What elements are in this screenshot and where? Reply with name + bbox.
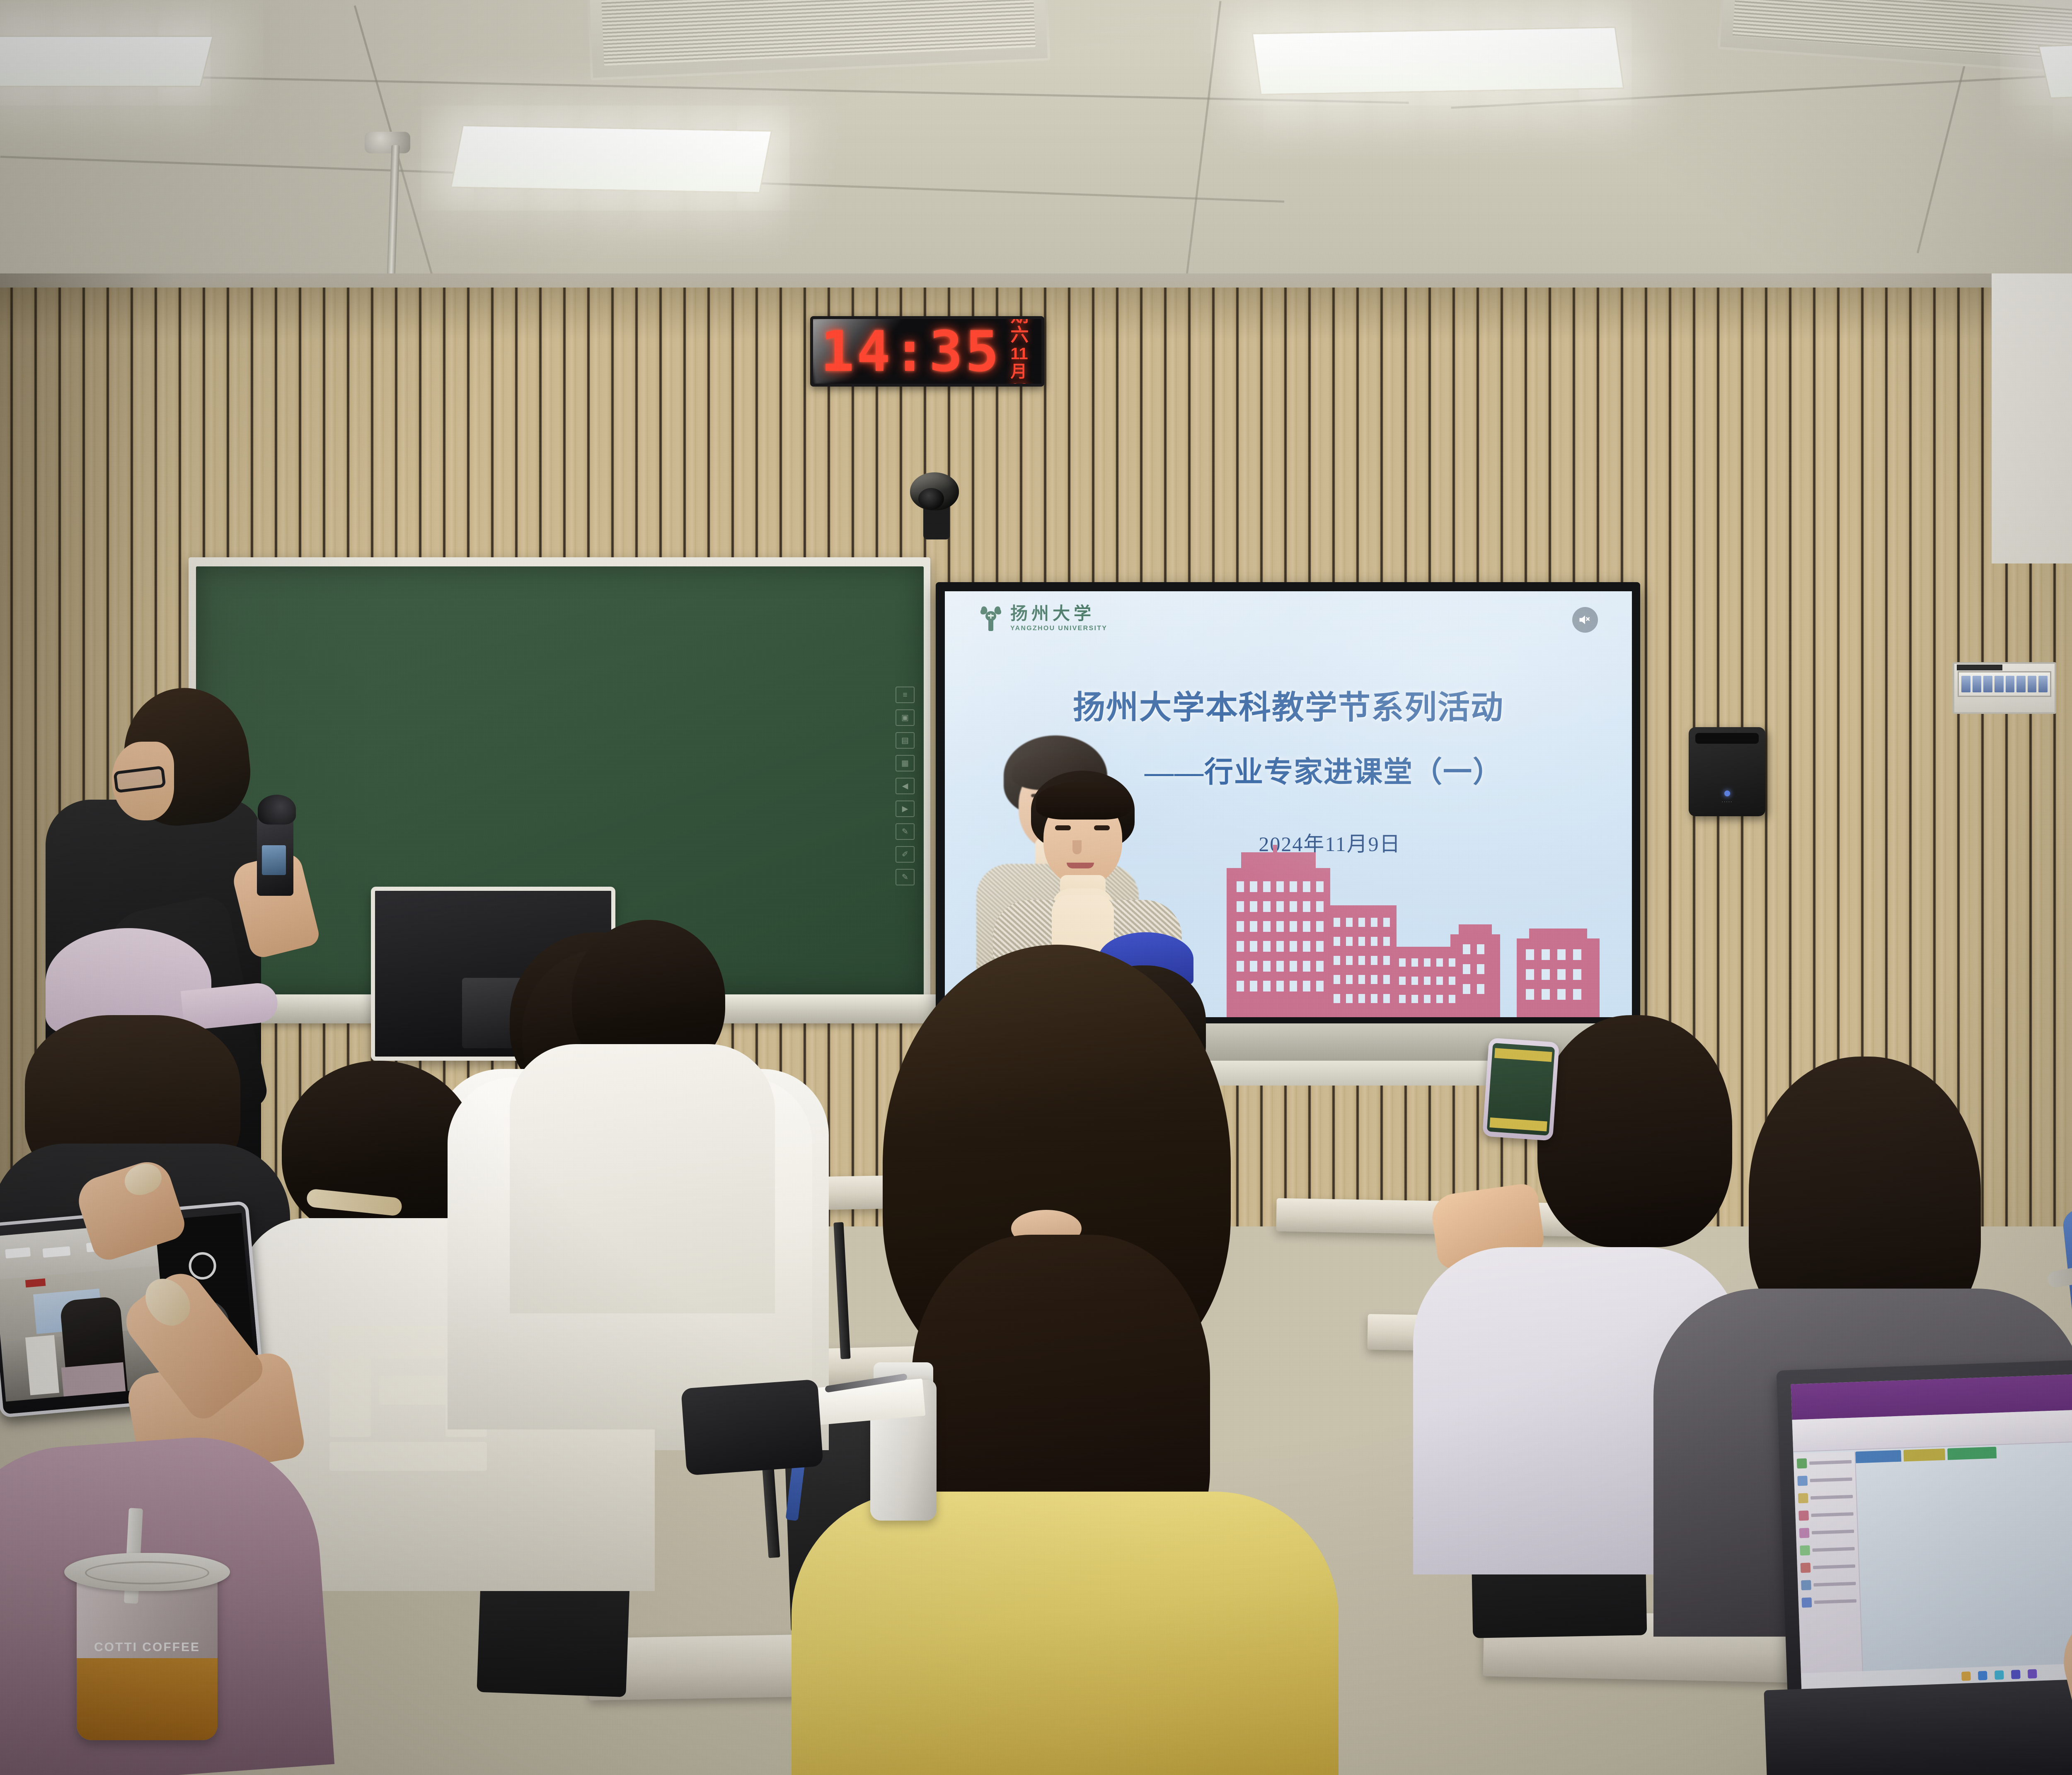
taskbar-icon-app[interactable] xyxy=(2011,1670,2021,1679)
black-bag xyxy=(681,1379,823,1476)
page-list-item[interactable] xyxy=(1802,1596,1857,1608)
page-list-item[interactable] xyxy=(1801,1579,1856,1591)
person-student-side-left xyxy=(510,920,775,1313)
clock-time: 14:35 xyxy=(821,324,1001,380)
classroom-photo-scene: 14:35 星期六 11月09日 ≡ ▣ ▤ ▦ ◀ ▶ ✎ ✐ ✎ xyxy=(0,0,2072,1775)
chalkboard-control-strip[interactable]: ≡ ▣ ▤ ▦ ◀ ▶ ✎ ✐ ✎ xyxy=(896,687,915,885)
section-tab-2[interactable] xyxy=(1903,1449,1945,1461)
coffee-cup-lid-ring xyxy=(85,1561,209,1584)
board-button-pen-red[interactable]: ✎ xyxy=(896,823,915,840)
university-name-en: YANGZHOU UNIVERSITY xyxy=(1010,625,1107,632)
taskbar-icon-mail[interactable] xyxy=(1995,1670,2004,1680)
board-button-0[interactable]: ≡ xyxy=(896,687,915,703)
board-button-next[interactable]: ▶ xyxy=(896,800,915,817)
page-list-item[interactable] xyxy=(1798,1509,1854,1521)
section-tab-1[interactable] xyxy=(1855,1450,1901,1463)
page-list-item[interactable] xyxy=(1797,1457,1852,1469)
page-list-item[interactable] xyxy=(1797,1474,1852,1486)
gimbal-camera-head-icon xyxy=(258,795,296,825)
laptop[interactable] xyxy=(1776,1356,2072,1702)
led-panel-light-right xyxy=(1251,27,1624,95)
surveillance-camera-lens-icon xyxy=(918,488,944,510)
board-button-2[interactable]: ▤ xyxy=(896,732,915,749)
laptop-screen xyxy=(1791,1370,2072,1690)
white-wall-section xyxy=(1992,273,2072,563)
page-list-item[interactable] xyxy=(1798,1492,1853,1504)
laptop-base xyxy=(1764,1674,2072,1775)
taskbar-icon-explorer[interactable] xyxy=(1961,1671,1971,1681)
clock-day-of-week: 星期六 xyxy=(1010,316,1034,345)
smartphone-right[interactable] xyxy=(1482,1037,1559,1141)
gimbal-screen xyxy=(262,845,286,875)
clock-date: 11月09日 xyxy=(1010,345,1034,387)
coffee-cup-brand: COTTI COFFEE xyxy=(77,1640,218,1654)
board-button-pen[interactable]: ✐ xyxy=(896,846,915,863)
speaker-status-led-icon xyxy=(1724,791,1730,796)
page-list-item-selected[interactable] xyxy=(1800,1544,1855,1556)
notebook-page-list[interactable] xyxy=(1793,1451,1864,1690)
wall-mounted-speaker: ····· xyxy=(1689,727,1765,816)
slide-title: 扬州大学本科教学节系列活动 xyxy=(945,682,1632,728)
projector-ceiling-mount xyxy=(365,132,410,153)
taskbar-icon-store[interactable] xyxy=(2028,1669,2037,1679)
phone-camera-preview xyxy=(1487,1043,1555,1136)
university-name-cn: 扬州大学 xyxy=(1010,605,1107,623)
board-button-eraser[interactable]: ✎ xyxy=(896,869,915,885)
board-button-1[interactable]: ▣ xyxy=(896,709,915,726)
taskbar-icon-browser[interactable] xyxy=(1978,1671,1987,1681)
yangzhou-university-emblem-icon xyxy=(977,604,1005,634)
board-button-3[interactable]: ▦ xyxy=(896,755,915,771)
person-student-ponytail-center xyxy=(779,945,1351,1775)
university-logo: 扬州大学 YANGZHOU UNIVERSITY xyxy=(977,604,1107,634)
speaker-brand-label: ····· xyxy=(1721,798,1733,805)
section-tab-3[interactable] xyxy=(1947,1447,1997,1460)
electrical-breaker-panel xyxy=(1953,662,2056,714)
speaker-muted-icon[interactable] xyxy=(1572,607,1598,633)
led-panel-light-left xyxy=(0,36,213,87)
led-panel-light-center xyxy=(450,125,772,193)
page-list-item[interactable] xyxy=(1799,1526,1854,1538)
page-list-item[interactable] xyxy=(1801,1561,1856,1573)
board-button-prev[interactable]: ◀ xyxy=(896,778,915,794)
wall-led-clock: 14:35 星期六 11月09日 xyxy=(810,316,1044,387)
